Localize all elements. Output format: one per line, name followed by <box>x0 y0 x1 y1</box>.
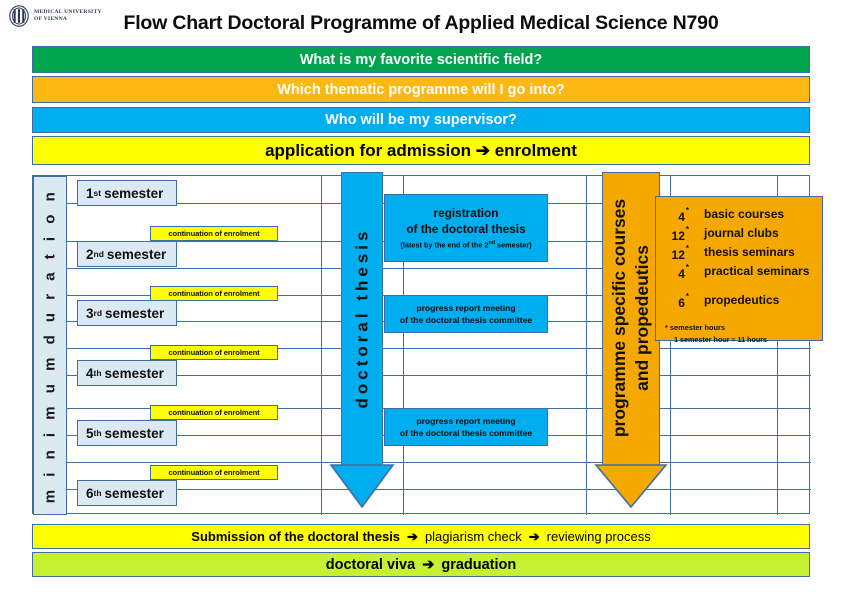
semester-suffix: th <box>94 488 102 498</box>
continuation-of-enrolment-3: continuation of enrolment <box>150 345 278 360</box>
semester-box-4: 4thsemester <box>77 360 177 386</box>
sidebar-minimum-duration: m i n i m u m d u r a t i o n <box>33 176 67 515</box>
course-hours: 6* <box>656 292 688 311</box>
grid-line-vertical <box>586 176 587 515</box>
arrow-right-icon: ➔ <box>415 557 441 573</box>
semester-label: semester <box>105 486 164 501</box>
semester-ordinal: 4 <box>86 366 94 381</box>
course-hours-marker: * <box>686 292 689 301</box>
semester-ordinal: 2 <box>86 247 94 262</box>
arrow-label-wrap: doctoral thesis <box>341 172 383 464</box>
page-title: Flow Chart Doctoral Programme of Applied… <box>0 12 842 35</box>
courses-footnote-2: 1 semester hour ≈ 11 hours <box>656 335 822 344</box>
progress-report-box-1: progress report meeting of the doctoral … <box>384 295 548 333</box>
semester-box-5: 5thsemester <box>77 420 177 446</box>
grid-line <box>33 462 811 463</box>
course-hours-marker: * <box>686 244 689 253</box>
continuation-of-enrolment-2: continuation of enrolment <box>150 286 278 301</box>
continuation-of-enrolment-4: continuation of enrolment <box>150 405 278 420</box>
course-hours: 12* <box>656 244 688 263</box>
bar-application-enrolment: application for admission ➔ enrolment <box>32 136 810 165</box>
arrow-label-wrap: programme specific courses and propedeut… <box>602 172 660 464</box>
submission-part1: Submission of the doctoral thesis <box>191 529 400 544</box>
course-hours-value: 12 <box>672 248 685 262</box>
semester-suffix: st <box>94 188 102 198</box>
progress-report-box-2: progress report meeting of the doctoral … <box>384 408 548 446</box>
viva-part2: graduation <box>441 557 516 573</box>
semester-box-1: 1stsemester <box>77 180 177 206</box>
flowchart-frame: What is my favorite scientific field? Wh… <box>32 46 810 566</box>
registration-box: registration of the doctoral thesis (lat… <box>384 194 548 262</box>
course-name: thesis seminars <box>704 244 795 263</box>
semester-suffix: th <box>94 428 102 438</box>
course-row-propedeutics: 6* propedeutics <box>656 292 822 311</box>
courses-detail-box: 4* basic courses 12* journal clubs 12* t… <box>655 196 823 341</box>
continuation-of-enrolment-5: continuation of enrolment <box>150 465 278 480</box>
submission-part3: reviewing process <box>547 529 651 544</box>
continuation-of-enrolment-1: continuation of enrolment <box>150 226 278 241</box>
semester-label: semester <box>104 186 163 201</box>
course-hours-marker: * <box>686 263 689 272</box>
flowchart-body: m i n i m u m d u r a t i o n 1stsemeste… <box>32 175 810 514</box>
courses-arrow-line1: programme specific courses <box>608 199 631 437</box>
semester-box-6: 6thsemester <box>77 480 177 506</box>
semester-suffix: th <box>94 368 102 378</box>
grid-line-vertical <box>321 176 322 515</box>
courses-arrow-line2: and propedeutics <box>631 245 654 391</box>
course-hours-value: 6 <box>678 296 685 310</box>
semester-ordinal: 1 <box>86 186 94 201</box>
sidebar-label: m i n i m u m d u r a t i o n <box>42 188 59 504</box>
progress-line2: of the doctoral thesis committee <box>400 315 532 325</box>
course-name: journal clubs <box>704 225 779 244</box>
course-hours-marker: * <box>686 225 689 234</box>
course-hours: 4* <box>656 263 688 282</box>
semester-label: semester <box>105 366 164 381</box>
semester-ordinal: 3 <box>86 306 94 321</box>
registration-line1: registration <box>434 206 499 220</box>
registration-note: (latest by the end of the 2nd semester) <box>400 240 531 249</box>
course-hours-value: 4 <box>678 267 685 281</box>
progress-line1: progress report meeting <box>416 416 515 426</box>
bar-supervisor: Who will be my supervisor? <box>32 107 810 133</box>
bar-viva-graduation: doctoral viva ➔ graduation <box>32 552 810 577</box>
flowchart-page: MEDICAL UNIVERSITY OF VIENNA Flow Chart … <box>0 0 842 595</box>
arrow-head-down-icon <box>594 464 668 508</box>
bar-favorite-field: What is my favorite scientific field? <box>32 46 810 73</box>
progress-line1: progress report meeting <box>416 303 515 313</box>
programme-courses-arrow-label: programme specific courses and propedeut… <box>608 199 654 437</box>
course-row: 4* basic courses <box>656 206 822 225</box>
course-name: basic courses <box>704 206 784 225</box>
course-row: 12* thesis seminars <box>656 244 822 263</box>
semester-box-3: 3rdsemester <box>77 300 177 326</box>
arrow-right-icon: ➔ <box>400 529 425 545</box>
course-name: practical seminars <box>704 263 809 282</box>
spacer <box>656 282 822 292</box>
submission-part2: plagiarism check <box>425 529 522 544</box>
progress-line2: of the doctoral thesis committee <box>400 428 532 438</box>
course-hours: 12* <box>656 225 688 244</box>
semester-label: semester <box>105 306 164 321</box>
courses-footnote-1: * semester hours <box>656 323 822 332</box>
course-hours-value: 4 <box>678 210 685 224</box>
semester-label: semester <box>105 426 164 441</box>
semester-ordinal: 5 <box>86 426 94 441</box>
registration-line2: of the doctoral thesis <box>406 222 525 236</box>
course-name: propedeutics <box>704 292 779 311</box>
registration-note-post: semester) <box>495 241 532 250</box>
bar-submission: Submission of the doctoral thesis ➔ plag… <box>32 524 810 549</box>
course-hours-marker: * <box>686 206 689 215</box>
semester-label: semester <box>107 247 166 262</box>
course-row: 4* practical seminars <box>656 263 822 282</box>
registration-note-pre: (latest by the end of the 2 <box>400 241 488 250</box>
semester-box-2: 2ndsemester <box>77 241 177 267</box>
course-hours-value: 12 <box>672 229 685 243</box>
arrow-head-down-icon <box>329 464 395 508</box>
doctoral-thesis-arrow-label: doctoral thesis <box>352 228 372 409</box>
course-row: 12* journal clubs <box>656 225 822 244</box>
semester-suffix: rd <box>94 308 103 318</box>
semester-suffix: nd <box>94 249 104 259</box>
semester-ordinal: 6 <box>86 486 94 501</box>
viva-part1: doctoral viva <box>326 557 415 573</box>
arrow-right-icon: ➔ <box>522 529 547 545</box>
course-hours: 4* <box>656 206 688 225</box>
bar-thematic-programme: Which thematic programme will I go into? <box>32 76 810 103</box>
